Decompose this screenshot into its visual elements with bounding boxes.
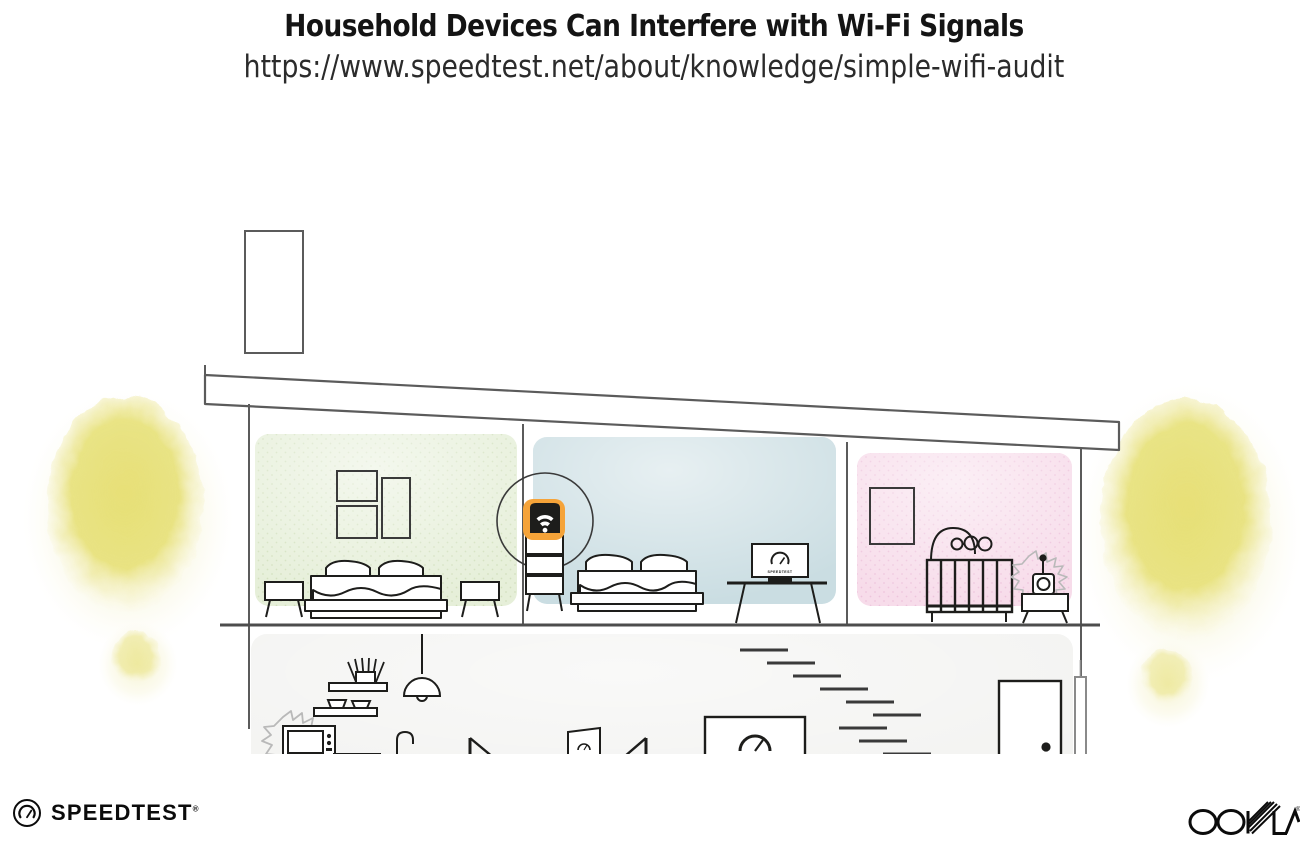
- ookla-trademark: ®: [1296, 806, 1300, 813]
- chimney: [245, 231, 303, 353]
- speedtest-wordmark: SPEEDTEST®: [51, 800, 199, 826]
- room-basement-living: [251, 634, 1073, 754]
- speedtest-trademark: ®: [193, 805, 199, 814]
- page-title: Household Devices Can Interfere with Wi-…: [78, 8, 1229, 46]
- nightstand-green-left: [265, 582, 303, 617]
- wifi-router[interactable]: [523, 499, 565, 540]
- speedtest-logo: SPEEDTEST®: [12, 798, 199, 828]
- speedtest-gauge-icon: [12, 798, 42, 828]
- poster-page: Household Devices Can Interfere with Wi-…: [0, 0, 1308, 861]
- laptop-screen-label: SPEEDTEST: [575, 753, 593, 754]
- side-window: [1075, 660, 1086, 754]
- tv-bedroom-screen-label: SPEEDTEST: [768, 570, 793, 574]
- microwave[interactable]: [283, 726, 335, 754]
- tree-left: [23, 389, 233, 706]
- tv-monitor-bedroom[interactable]: SPEEDTEST: [752, 544, 808, 582]
- source-url: https://www.speedtest.net/about/knowledg…: [92, 48, 1217, 87]
- door-knob-icon: [1041, 742, 1050, 751]
- ookla-logo: ®: [1188, 800, 1300, 838]
- wall-shelf-upper: [329, 683, 387, 691]
- speedtest-wordmark-text: SPEEDTEST: [51, 800, 193, 825]
- tv-screen-living[interactable]: SPEEDTEST: [705, 717, 805, 754]
- footer: SPEEDTEST®: [0, 786, 1308, 861]
- side-table-nursery: [1022, 594, 1068, 623]
- header: Household Devices Can Interfere with Wi-…: [0, 0, 1308, 87]
- ookla-wordmark: ®: [1188, 800, 1300, 838]
- house-cutaway-illustration: SPEEDTEST: [0, 104, 1308, 754]
- nightstand-green-right: [461, 582, 499, 617]
